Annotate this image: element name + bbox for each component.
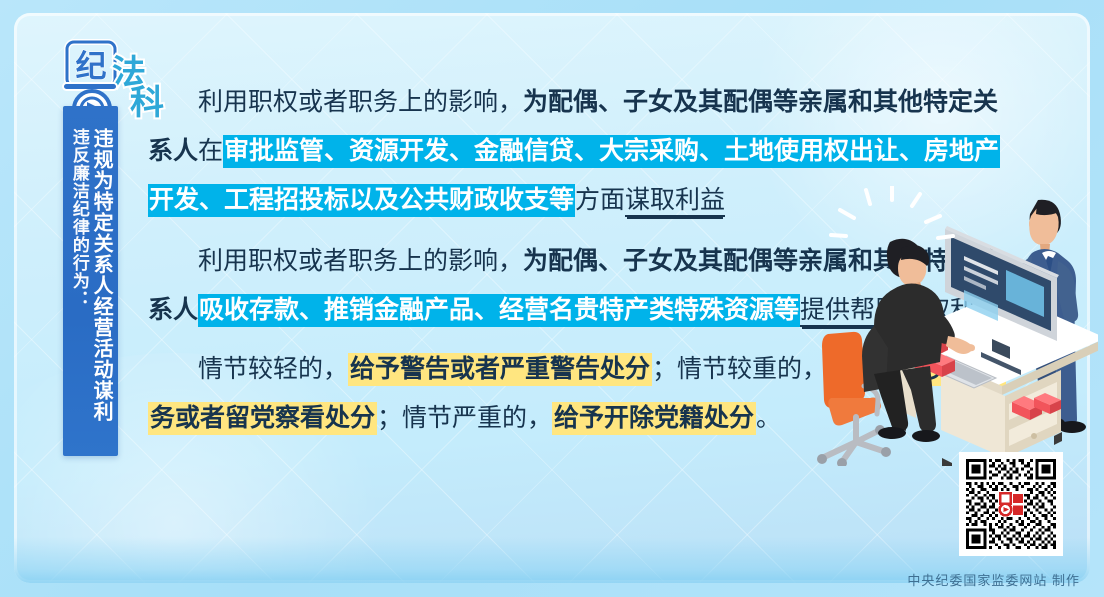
- p3-seg-5-highlight: 给予开除党籍处分: [552, 402, 756, 435]
- logo-char-ji: 纪: [67, 42, 115, 86]
- p1-seg-5-underline: 谋取利益: [625, 187, 725, 217]
- p1-seg-4: 方面: [575, 187, 625, 214]
- surprise-lines: [831, 186, 953, 238]
- qr-code[interactable]: [959, 452, 1063, 556]
- p3-seg-1-highlight: 给予警告或者严重警告处分: [348, 353, 652, 386]
- logo-underline-stroke: [63, 83, 117, 90]
- p3-seg-0: 情节较轻的，: [198, 356, 348, 383]
- p3-seg-4: ；情节严重的，: [377, 405, 552, 432]
- poster-root: 纪 法 科 违规为特定关系人经营活动谋利 违反廉洁纪律的行为：: [0, 0, 1104, 597]
- p3-seg-2: ；情节较重的，: [652, 356, 827, 383]
- footer-credit: 中央纪委国家监委网站 制作: [907, 570, 1080, 589]
- office-scene-illustration: [806, 186, 1098, 466]
- p2-seg-0: 利用职权或者职务上的影响，: [198, 248, 523, 275]
- p1-seg-2: 在: [198, 138, 223, 165]
- p1-seg-0: 利用职权或者职务上的影响，: [198, 89, 523, 116]
- vertical-banner-main-text: 违规为特定关系人经营活动谋利: [89, 128, 112, 456]
- svg-text:纪: 纪: [76, 49, 107, 84]
- vertical-banner-sub-text: 违反廉洁纪律的行为：: [69, 128, 89, 456]
- p2-seg-2-highlight: 吸收存款、推销金融产品、经营名贵特产类特殊资源等: [198, 294, 800, 327]
- qr-center-logo: [998, 491, 1024, 517]
- p3-seg-6: 。: [756, 405, 781, 432]
- vertical-title-banner: 违规为特定关系人经营活动谋利 违反廉洁纪律的行为：: [63, 106, 118, 456]
